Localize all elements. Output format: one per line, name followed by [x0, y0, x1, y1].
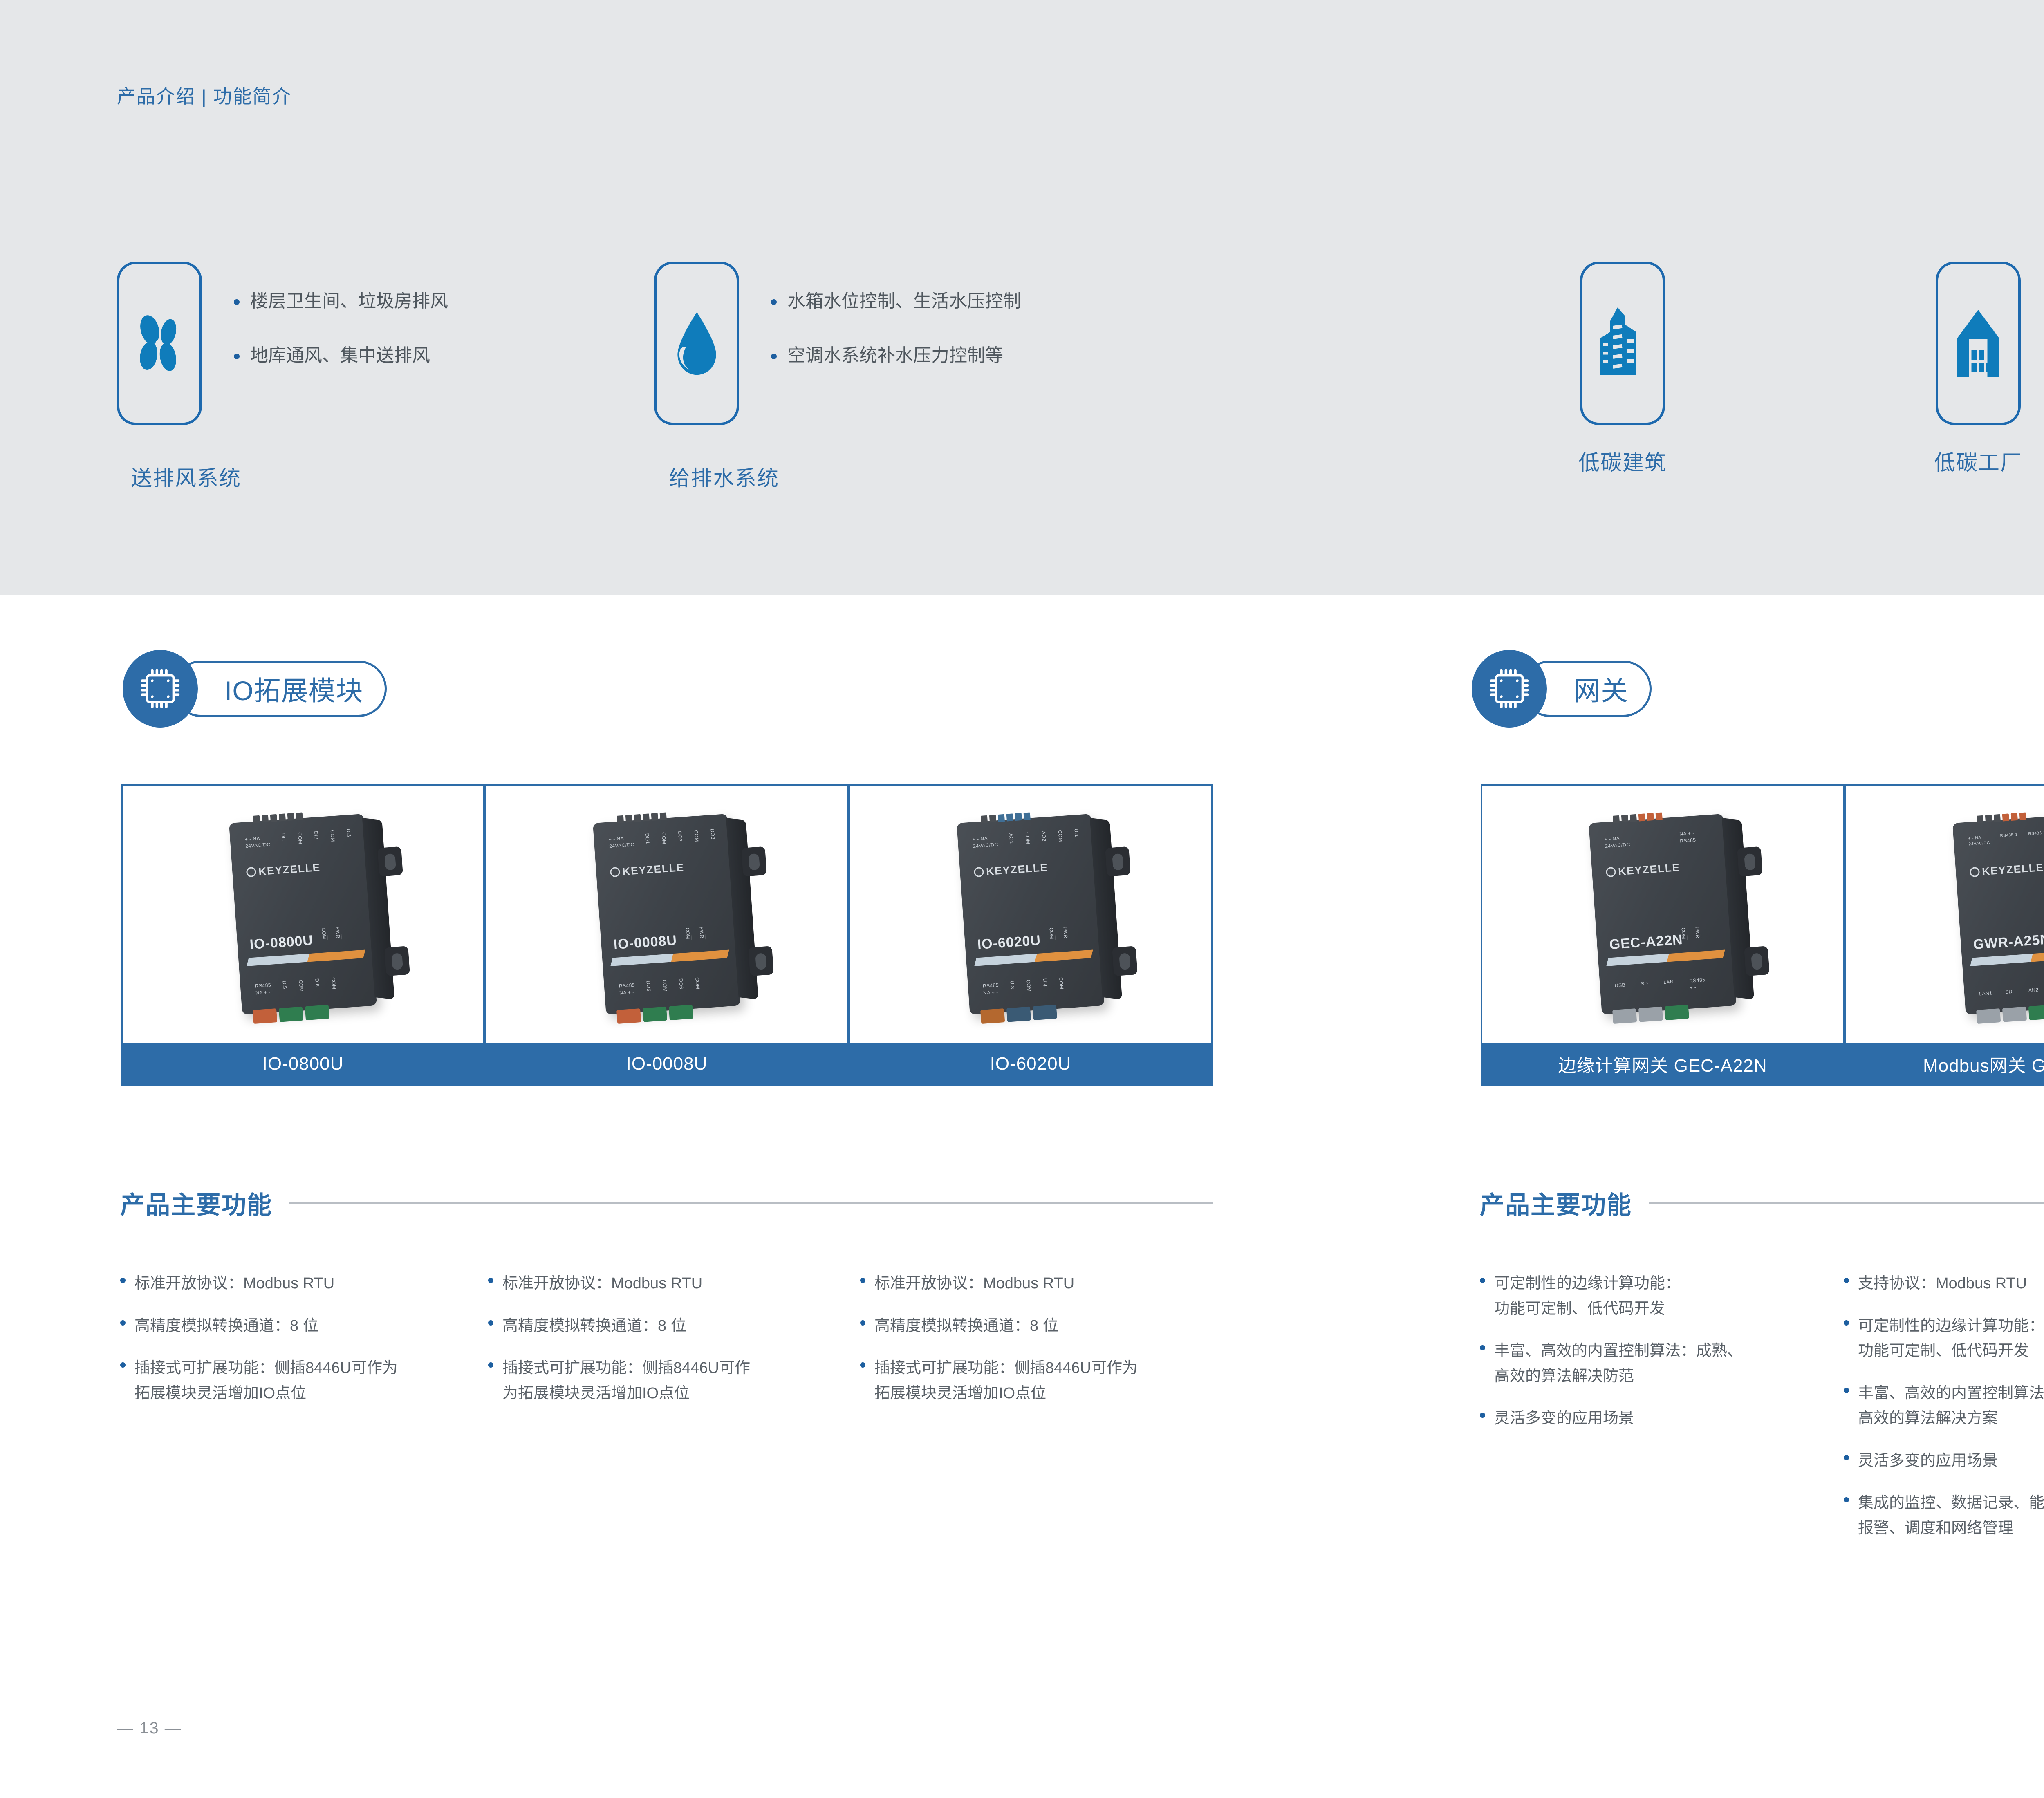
device-bottom-terminals: RS485NA + - DO5 COM DO6 COM	[619, 977, 701, 996]
feature-column-3: 标准开放协议：Modbus RTU 高精度模拟转换通道：8 位 插接式可扩展功能…	[860, 1271, 1195, 1423]
running-head-left: 产品介绍 | 功能简介	[117, 82, 292, 109]
list-item: 楼层卫生间、垃圾房排风	[234, 291, 448, 312]
device-bottom-terminals: RS485NA + - UI3 COM UI4 COM	[982, 977, 1065, 996]
chip-icon-circle	[123, 650, 198, 728]
device-illustration: + - NA24VAC/DC NA + -RS485 KEYZELLE GEC-…	[1589, 814, 1737, 1015]
water-drop-icon-box	[654, 262, 739, 425]
scenario-ventilation: 楼层卫生间、垃圾房排风 地库通风、集中送排风	[117, 262, 448, 425]
bullet-dot-icon	[1480, 1345, 1485, 1350]
feature-column-2: 支持协议：Modbus RTU 可定制性的边缘计算功能： 功能可定制、低代码开发…	[1844, 1271, 2044, 1558]
device-top-pins	[1977, 812, 2026, 823]
device-accent-stripe	[247, 950, 365, 966]
water-bullet-list: 水箱水位控制、生活水压控制 空调水系统补水压力控制等	[771, 262, 1021, 399]
factory-icon-box	[1936, 262, 2021, 425]
feature-column-1: 可定制性的边缘计算功能： 功能可定制、低代码开发 丰富、高效的内置控制算法：成熟…	[1480, 1271, 1807, 1449]
list-item: 标准开放协议：Modbus RTU	[860, 1271, 1195, 1296]
chip-icon	[139, 667, 182, 710]
device-bottom-terminals: RS485NA + - DI5 COM DI6 COM	[255, 977, 337, 996]
feature-column-2: 标准开放协议：Modbus RTU 高精度模拟转换通道：8 位 插接式可扩展功能…	[488, 1271, 815, 1423]
product-label: IO-0008U	[486, 1043, 847, 1085]
device-top-pins	[1613, 812, 1663, 823]
list-item: 丰富、高效的内置控制算法：成熟、 高效的算法解决方案	[1844, 1381, 2044, 1431]
tile-caption: 低碳建筑	[1578, 446, 1667, 476]
bullet-dot-icon	[1480, 1278, 1485, 1283]
product-card-io-0800u[interactable]: + - NA24VAC/DC DI1 COM DI2 COM DI3 COM K…	[121, 784, 485, 1086]
bullet-dot-icon	[771, 299, 777, 305]
bullet-dot-icon	[1844, 1320, 1849, 1326]
list-item: 集成的监控、数据记录、能耗计量、 报警、调度和网络管理	[1844, 1491, 2044, 1541]
product-card-io-6020u[interactable]: + - NA24VAC/DC AO1 COM AO2 COM UI1 COM K…	[849, 784, 1213, 1086]
device-illustration: + - NA24VAC/DC DO1 COM DO2 COM DO3 COM K…	[593, 814, 741, 1015]
bullet-dot-icon	[234, 299, 240, 305]
product-photo: + - NA24VAC/DC NA + -RS485 KEYZELLE GEC-…	[1482, 786, 1843, 1043]
list-item: 插接式可扩展功能：侧插8446U可作 为拓展模块灵活增加IO点位	[488, 1356, 815, 1406]
list-item: 高精度模拟转换通道：8 位	[488, 1314, 815, 1339]
device-connectors	[1612, 1005, 1689, 1024]
features-title: 产品主要功能	[1480, 1185, 1632, 1221]
device-leds: COM PWR	[684, 927, 706, 940]
features-heading-gateway: 产品主要功能	[1480, 1185, 2044, 1221]
bullet-dot-icon	[1480, 1413, 1485, 1418]
device-accent-stripe	[610, 950, 729, 966]
list-item: 高精度模拟转换通道：8 位	[120, 1314, 447, 1339]
ventilation-bullet-list: 楼层卫生间、垃圾房排风 地库通风、集中送排风	[234, 262, 448, 399]
section-badge-gateway: 网关	[1472, 650, 1652, 728]
device-connectors	[980, 1005, 1057, 1024]
device-top-pins	[617, 812, 667, 823]
device-leds: COM PWR	[1680, 927, 1701, 940]
list-item: 插接式可扩展功能：侧插8446U可作为 拓展模块灵活增加IO点位	[120, 1356, 447, 1406]
product-card-io-0008u[interactable]: + - NA24VAC/DC DO1 COM DO2 COM DO3 COM K…	[485, 784, 849, 1086]
brand-mark-icon	[974, 867, 984, 878]
bullet-text: 楼层卫生间、垃圾房排风	[250, 291, 448, 312]
device-brand: KEYZELLE	[1605, 861, 1681, 879]
list-item: 水箱水位控制、生活水压控制	[771, 291, 1021, 312]
bullet-dot-icon	[1844, 1388, 1849, 1393]
bullet-text: 空调水系统补水压力控制等	[787, 345, 1003, 366]
device-brand: KEYZELLE	[1969, 861, 2044, 879]
device-accent-stripe	[1606, 950, 1725, 966]
device-leds: COM PWR	[1048, 927, 1069, 940]
bullet-dot-icon	[120, 1278, 126, 1283]
device-model: GEC-A22N	[1609, 932, 1683, 953]
product-card-gwr-a25n[interactable]: + - NA24VAC/DC RS485-1 RS485-2 RS485-3 K…	[1845, 784, 2044, 1086]
list-item: 插接式可扩展功能：侧插8446U可作为 拓展模块灵活增加IO点位	[860, 1356, 1195, 1406]
list-item: 灵活多变的应用场景	[1480, 1406, 1807, 1431]
bullet-dot-icon	[234, 354, 240, 359]
list-item: 高精度模拟转换通道：8 位	[860, 1314, 1195, 1339]
bullet-dot-icon	[120, 1320, 126, 1326]
device-accent-stripe	[974, 950, 1093, 966]
bullet-dot-icon	[860, 1320, 865, 1326]
brand-mark-icon	[1970, 867, 1980, 878]
bullet-dot-icon	[1844, 1455, 1849, 1460]
brand-mark-icon	[1606, 867, 1616, 878]
bullet-dot-icon	[488, 1278, 493, 1283]
section-title-text: 网关	[1573, 669, 1628, 708]
device-bottom-terminals: LAN1 SD LAN2 RS485	[1979, 985, 2044, 996]
device-bottom-terminals: USB SD LAN RS485+ -	[1614, 977, 1706, 997]
product-label: Modbus网关 GWR-A25N	[1846, 1043, 2044, 1085]
device-connectors	[253, 1005, 329, 1024]
features-title: 产品主要功能	[120, 1185, 272, 1221]
office-building-icon	[1597, 306, 1648, 381]
features-heading-io: 产品主要功能	[120, 1185, 1213, 1221]
section-title-text: IO拓展模块	[224, 669, 363, 708]
device-top-terminals: + - NA24VAC/DC NA + -RS485	[1604, 830, 1696, 850]
feature-column-1: 标准开放协议：Modbus RTU 高精度模拟转换通道：8 位 插接式可扩展功能…	[120, 1271, 447, 1423]
product-photo: + - NA24VAC/DC RS485-1 RS485-2 RS485-3 K…	[1846, 786, 2044, 1043]
fan-icon-box	[117, 262, 202, 425]
brand-mark-icon	[610, 867, 621, 878]
heading-rule	[1649, 1202, 2044, 1204]
scenario-water-supply: 水箱水位控制、生活水压控制 空调水系统补水压力控制等	[654, 262, 1021, 425]
tile-low-carbon-building: 低碳建筑	[1580, 262, 1665, 425]
list-item: 可定制性的边缘计算功能： 功能可定制、低代码开发	[1480, 1271, 1807, 1321]
device-top-terminals: + - NA24VAC/DC DI1 COM DI2 COM DI3 COM	[244, 827, 368, 850]
chip-icon	[1488, 667, 1531, 710]
device-top-terminals: + - NA24VAC/DC AO1 COM AO2 COM UI1 COM	[972, 827, 1096, 850]
fan-icon	[131, 313, 188, 374]
section-badge-io-modules: IO拓展模块	[123, 650, 387, 728]
device-model: IO-6020U	[977, 932, 1042, 953]
device-brand: KEYZELLE	[610, 861, 685, 879]
bullet-dot-icon	[1844, 1497, 1849, 1502]
device-model: IO-0008U	[613, 932, 678, 953]
bullet-text: 地库通风、集中送排风	[250, 345, 430, 366]
bullet-dot-icon	[120, 1362, 126, 1368]
device-top-terminals: + - NA24VAC/DC DO1 COM DO2 COM DO3 COM	[608, 827, 732, 850]
device-illustration: + - NA24VAC/DC RS485-1 RS485-2 RS485-3 K…	[1952, 814, 2044, 1015]
heading-rule	[289, 1202, 1213, 1204]
list-item: 地库通风、集中送排风	[234, 345, 448, 366]
list-item: 标准开放协议：Modbus RTU	[120, 1271, 447, 1296]
office-building-icon-box	[1580, 262, 1665, 425]
bullet-dot-icon	[860, 1362, 865, 1368]
device-leds: COM PWR	[320, 927, 342, 940]
device-illustration: + - NA24VAC/DC DI1 COM DI2 COM DI3 COM K…	[229, 814, 377, 1015]
list-item: 空调水系统补水压力控制等	[771, 345, 1021, 366]
bullet-dot-icon	[860, 1278, 865, 1283]
section-title-pill-io: IO拓展模块	[173, 661, 387, 717]
device-brand: KEYZELLE	[246, 861, 321, 879]
chip-icon-circle	[1472, 650, 1547, 728]
bullet-dot-icon	[488, 1362, 493, 1368]
product-photo: + - NA24VAC/DC DI1 COM DI2 COM DI3 COM K…	[123, 786, 483, 1043]
bullet-dot-icon	[1844, 1278, 1849, 1283]
water-drop-icon	[671, 310, 722, 377]
scenario-caption-water: 给排水系统	[669, 461, 779, 492]
list-item: 标准开放协议：Modbus RTU	[488, 1271, 815, 1296]
product-label: 边缘计算网关 GEC-A22N	[1482, 1043, 1843, 1085]
bullet-dot-icon	[488, 1320, 493, 1326]
tile-caption: 低碳工厂	[1934, 446, 2022, 476]
device-top-terminals: + - NA24VAC/DC RS485-1 RS485-2 RS485-3	[1968, 828, 2044, 847]
device-top-pins	[981, 812, 1031, 823]
product-photo: + - NA24VAC/DC AO1 COM AO2 COM UI1 COM K…	[850, 786, 1211, 1043]
device-connectors	[1976, 1005, 2044, 1024]
list-item: 支持协议：Modbus RTU	[1844, 1271, 2044, 1296]
brand-mark-icon	[246, 867, 257, 878]
device-connectors	[616, 1005, 693, 1024]
product-label: IO-6020U	[850, 1043, 1211, 1085]
scenario-caption-ventilation: 送排风系统	[131, 461, 241, 492]
list-item: 灵活多变的应用场景	[1844, 1449, 2044, 1474]
factory-icon	[1952, 306, 2004, 381]
device-model: GWR-A25N	[1973, 931, 2044, 953]
brochure-page: 产品介绍 | 功能简介 产品介绍 | 功能简介 楼层卫生间、垃圾房排风	[0, 0, 2044, 1798]
bullet-text: 水箱水位控制、生活水压控制	[787, 291, 1021, 312]
list-item: 丰富、高效的内置控制算法：成熟、 高效的算法解决防范	[1480, 1339, 1807, 1389]
device-model: IO-0800U	[249, 932, 314, 953]
list-item: 可定制性的边缘计算功能： 功能可定制、低代码开发	[1844, 1314, 2044, 1364]
page-number-left: — 13 —	[117, 1719, 182, 1738]
product-card-gec-a22n[interactable]: + - NA24VAC/DC NA + -RS485 KEYZELLE GEC-…	[1481, 784, 1845, 1086]
product-photo: + - NA24VAC/DC DO1 COM DO2 COM DO3 COM K…	[486, 786, 847, 1043]
device-top-pins	[253, 812, 303, 823]
bullet-dot-icon	[771, 354, 777, 359]
device-illustration: + - NA24VAC/DC AO1 COM AO2 COM UI1 COM K…	[957, 814, 1105, 1015]
tile-low-carbon-factory: 低碳工厂	[1936, 262, 2021, 425]
device-brand: KEYZELLE	[973, 861, 1049, 879]
product-label: IO-0800U	[123, 1043, 483, 1085]
